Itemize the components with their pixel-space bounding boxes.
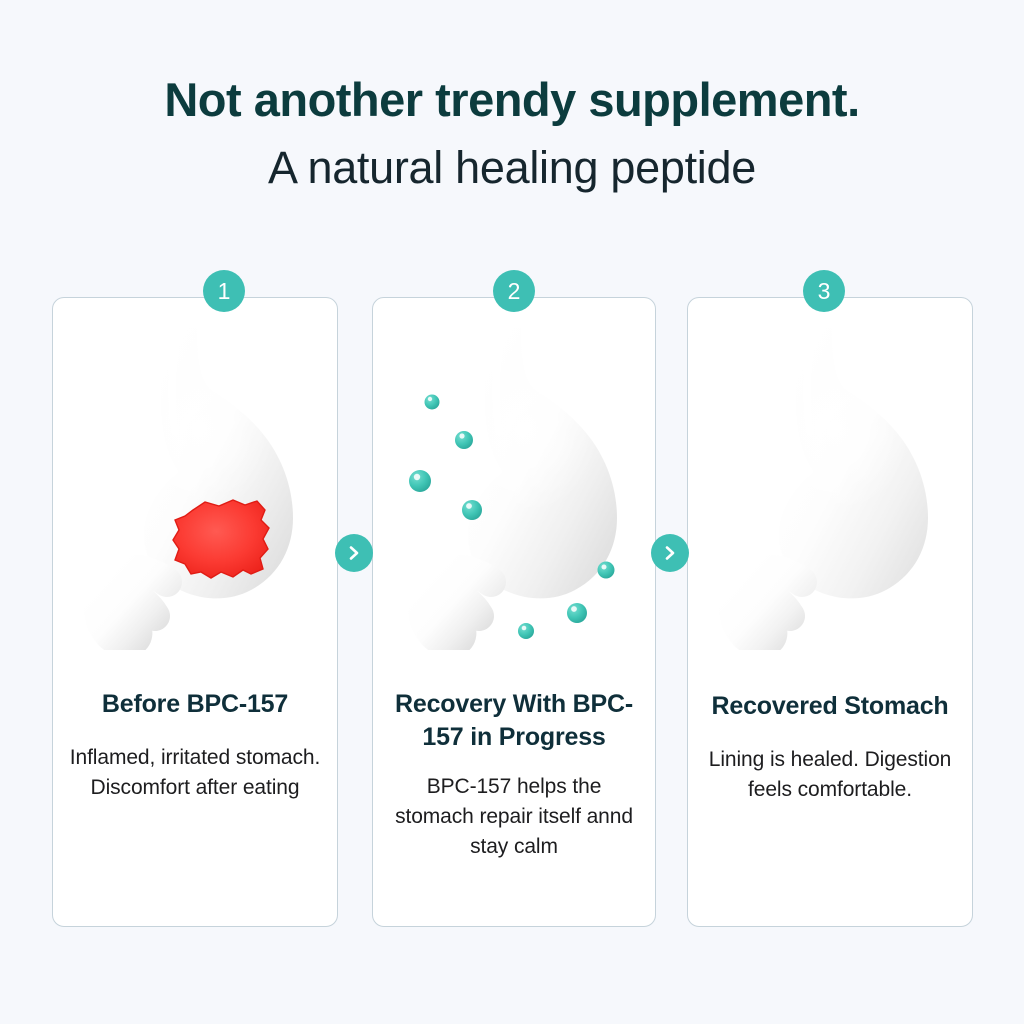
card-caption-1: Before BPC-157 Inflamed, irritated stoma… <box>65 688 325 803</box>
headline: Not another trendy supplement. <box>0 76 1024 123</box>
step-card-1[interactable]: 1 <box>52 297 338 927</box>
chevron-right-icon-1[interactable] <box>335 534 373 572</box>
step-badge-2: 2 <box>493 270 535 312</box>
card-caption-2: Recovery With BPC-157 in Progress BPC-15… <box>385 688 643 861</box>
card-title-2: Recovery With BPC-157 in Progress <box>385 688 643 754</box>
card-body-2: BPC-157 helps the stomach repair itself … <box>385 772 643 861</box>
stomach-healing-icon <box>373 320 655 660</box>
card-caption-3: Recovered Stomach Lining is healed. Dige… <box>700 688 960 805</box>
subheadline: A natural healing peptide <box>0 145 1024 190</box>
step-card-2[interactable]: 2 <box>372 297 656 927</box>
card-body-3: Lining is healed. Digestion feels comfor… <box>700 745 960 805</box>
header: Not another trendy supplement. A natural… <box>0 76 1024 190</box>
card-body-1: Inflamed, irritated stomach. Discomfort … <box>65 743 325 803</box>
stomach-healthy-icon <box>688 320 972 660</box>
step-badge-1: 1 <box>203 270 245 312</box>
chevron-right-icon-2[interactable] <box>651 534 689 572</box>
cards-row: 1 <box>0 297 1024 927</box>
card-title-1: Before BPC-157 <box>65 688 325 721</box>
step-badge-3: 3 <box>803 270 845 312</box>
step-card-3[interactable]: 3 <box>687 297 973 927</box>
card-title-3: Recovered Stomach <box>700 690 960 723</box>
stomach-inflamed-icon <box>53 320 337 660</box>
